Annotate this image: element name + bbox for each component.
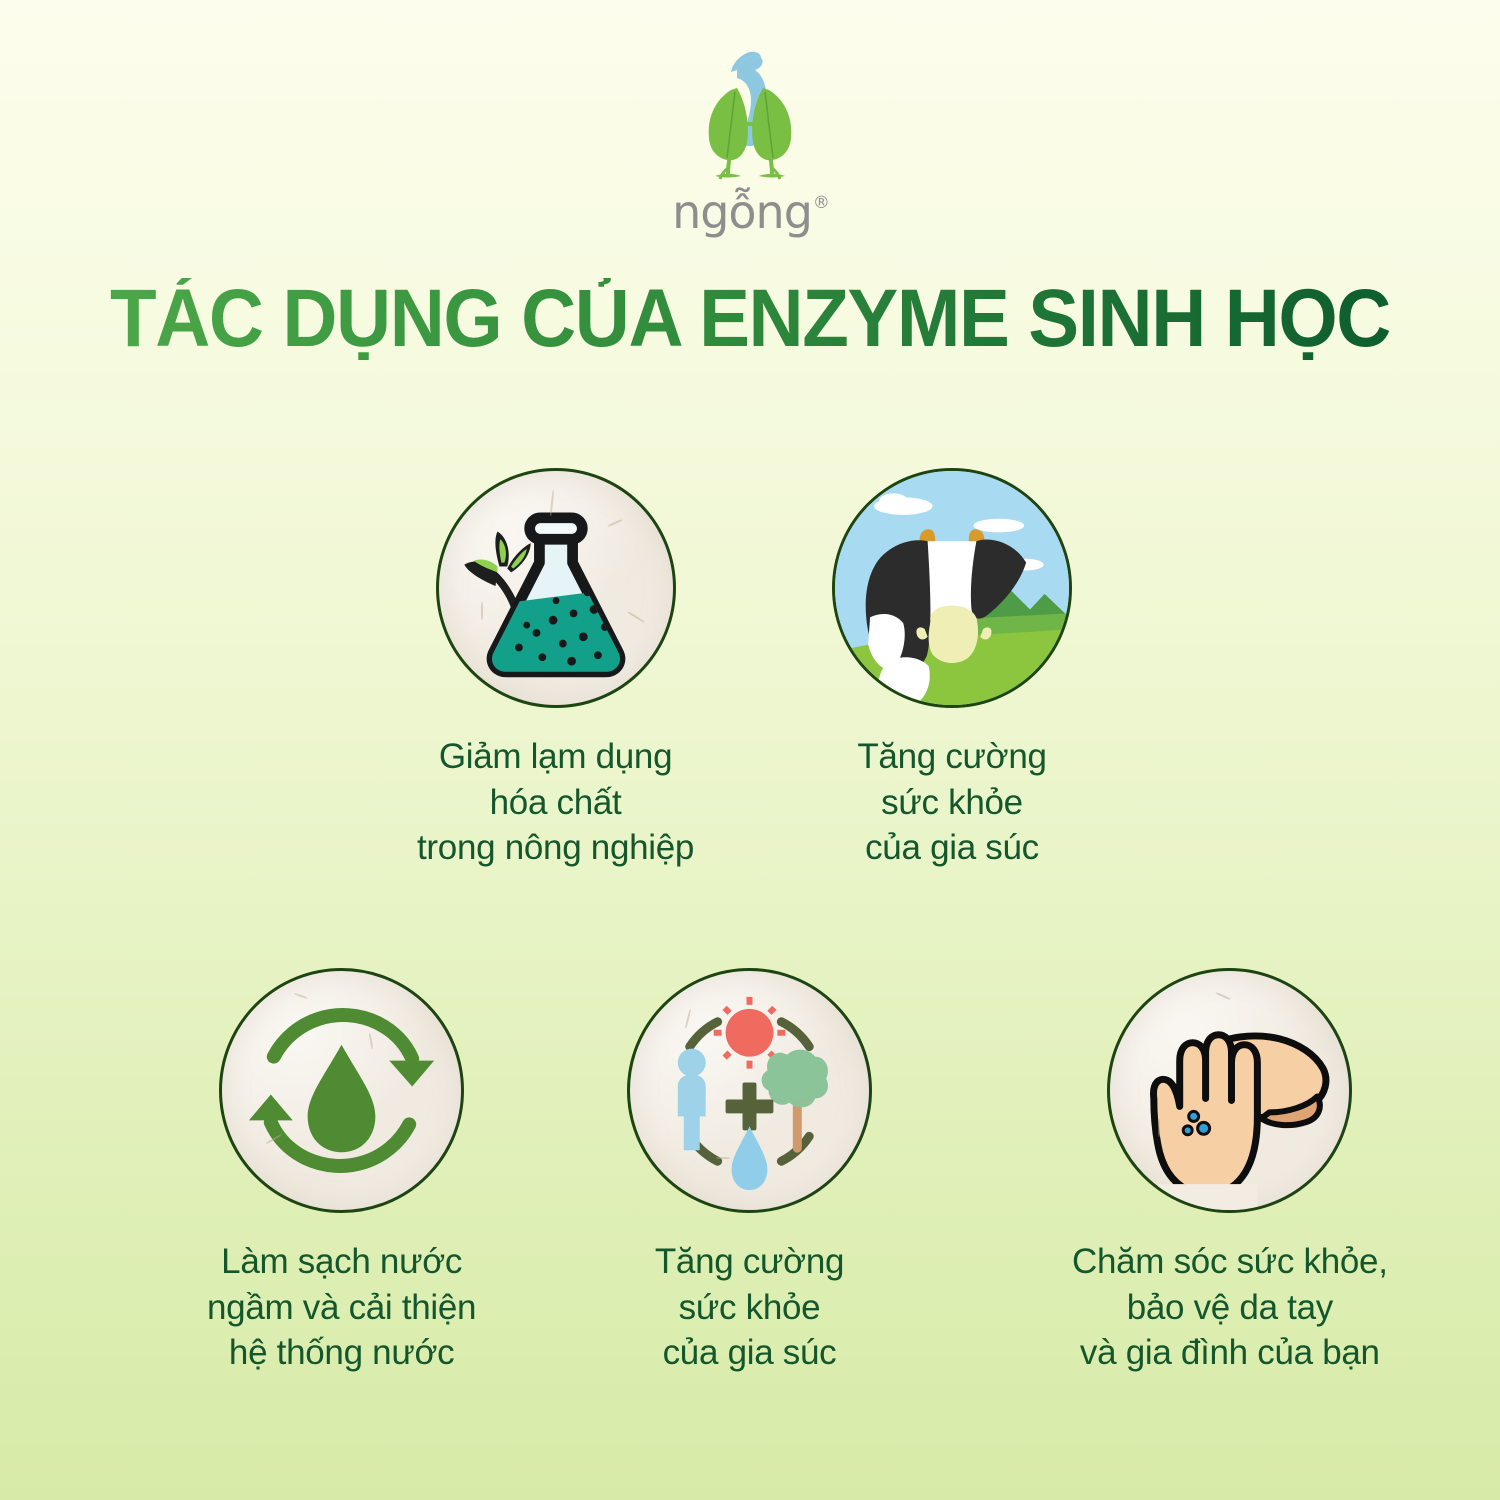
water-recycle-droplet-icon bbox=[222, 971, 461, 1210]
benefit-card-livestock-health-2: Tăng cường sức khỏe của gia súc bbox=[627, 968, 872, 1376]
trademark-symbol: ® bbox=[813, 193, 829, 213]
benefit-caption: Tăng cường sức khỏe của gia súc bbox=[655, 1239, 844, 1376]
benefit-card-hand-skin-care: Chăm sóc sức khỏe, bảo vệ da tay và gia … bbox=[1072, 968, 1388, 1376]
brand-name: ngỗng® bbox=[672, 189, 828, 235]
benefit-icon-circle bbox=[219, 968, 464, 1213]
person-tree-sun-water-icon bbox=[630, 971, 869, 1210]
flask-leaf-icon bbox=[439, 471, 673, 705]
benefit-icon-circle bbox=[436, 468, 676, 708]
brand-logo: ngỗng® bbox=[0, 42, 1500, 235]
hands-washing-soap-icon bbox=[1110, 971, 1349, 1210]
benefit-caption: Tăng cường sức khỏe của gia súc bbox=[857, 734, 1046, 871]
goose-leaf-logo-icon bbox=[675, 42, 825, 187]
benefit-card-clean-groundwater: Làm sạch nước ngầm và cải thiện hệ thống… bbox=[207, 968, 476, 1376]
benefit-card-livestock-health: Tăng cường sức khỏe của gia súc bbox=[832, 468, 1072, 871]
page-title: TÁC DỤNG CỦA ENZYME SINH HỌC bbox=[53, 278, 1448, 360]
benefit-caption: Làm sạch nước ngầm và cải thiện hệ thống… bbox=[207, 1239, 476, 1376]
benefit-caption: Chăm sóc sức khỏe, bảo vệ da tay và gia … bbox=[1072, 1239, 1388, 1376]
benefit-caption: Giảm lạm dụng hóa chất trong nông nghiệp bbox=[417, 734, 694, 871]
benefit-icon-circle bbox=[832, 468, 1072, 708]
dairy-cow-pasture-icon bbox=[835, 471, 1069, 705]
benefit-icon-circle bbox=[1107, 968, 1352, 1213]
benefit-card-reduce-chemicals: Giảm lạm dụng hóa chất trong nông nghiệp bbox=[417, 468, 694, 871]
benefit-icon-circle bbox=[627, 968, 872, 1213]
